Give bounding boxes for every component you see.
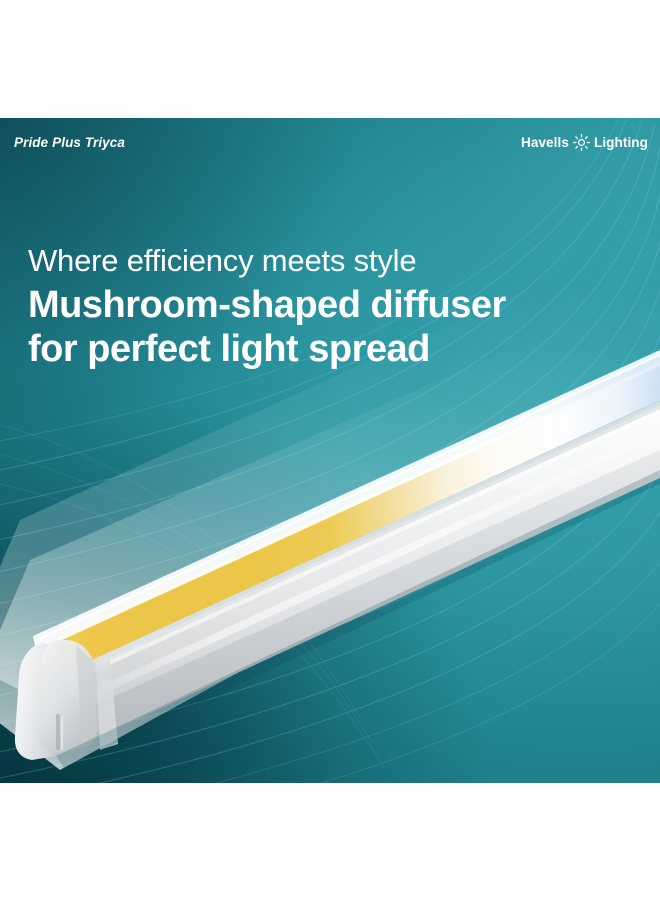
logo-word-lighting: Lighting	[594, 135, 648, 150]
logo-word-havells: Havells	[521, 135, 569, 150]
teal-panel	[0, 118, 660, 783]
header-bar: Pride Plus Triyca Havells	[0, 118, 660, 170]
headline-line-1: Mushroom-shaped diffuser	[28, 283, 628, 327]
ad-canvas: Pride Plus Triyca Havells	[0, 0, 660, 900]
headline-block: Where efficiency meets style Mushroom-sh…	[28, 243, 628, 371]
sun-icon	[573, 134, 590, 151]
headline-main: Mushroom-shaped diffuser for perfect lig…	[28, 283, 628, 371]
havells-lighting-logo: Havells Lighting	[521, 134, 648, 151]
decorative-arcs	[0, 118, 660, 783]
headline-eyebrow: Where efficiency meets style	[28, 243, 628, 280]
brand-tagline: Pride Plus Triyca	[14, 135, 125, 150]
headline-line-2: for perfect light spread	[28, 327, 628, 371]
